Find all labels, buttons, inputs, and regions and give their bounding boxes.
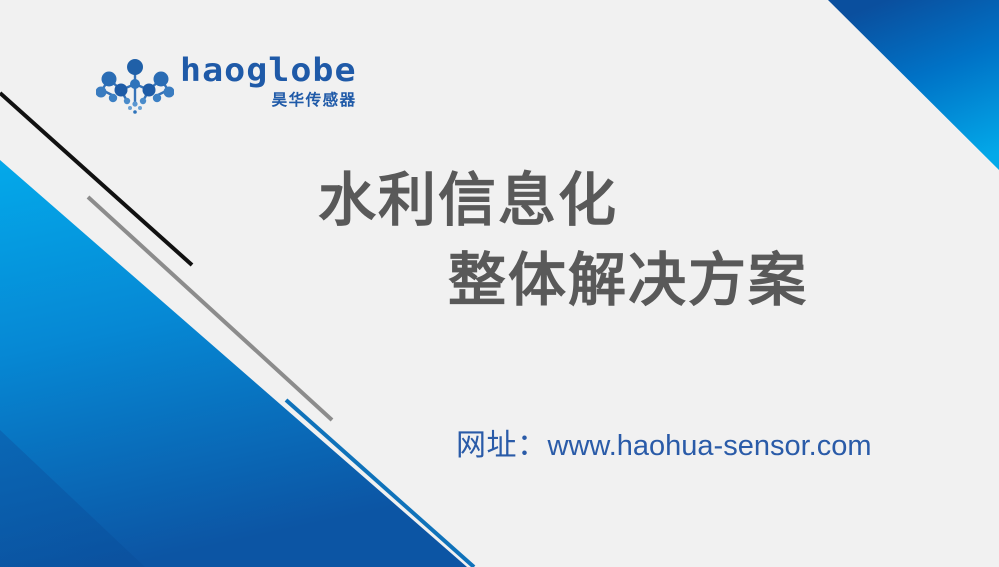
top-right-triangle xyxy=(828,0,999,170)
bottom-left-wedge xyxy=(0,430,145,567)
website-url[interactable]: www.haohua-sensor.com xyxy=(548,430,872,462)
page-title: 水利信息化 整体解决方案 xyxy=(0,160,999,320)
logo-subtitle: 昊华传感器 xyxy=(272,93,357,109)
logo-wordmark: haoglobe xyxy=(180,55,357,87)
slide-canvas: haoglobe 昊华传感器 水利信息化 整体解决方案 网址：www.haohu… xyxy=(0,0,999,567)
company-logo: haoglobe 昊华传感器 xyxy=(96,55,357,121)
diagonal-line-blue xyxy=(286,400,474,567)
molecule-network-logo-icon xyxy=(96,57,174,115)
website-label: 网址： xyxy=(456,428,548,463)
title-line-1: 水利信息化 xyxy=(0,160,999,240)
title-line-2: 整体解决方案 xyxy=(0,240,999,320)
website-line: 网址：www.haohua-sensor.com xyxy=(456,420,872,464)
